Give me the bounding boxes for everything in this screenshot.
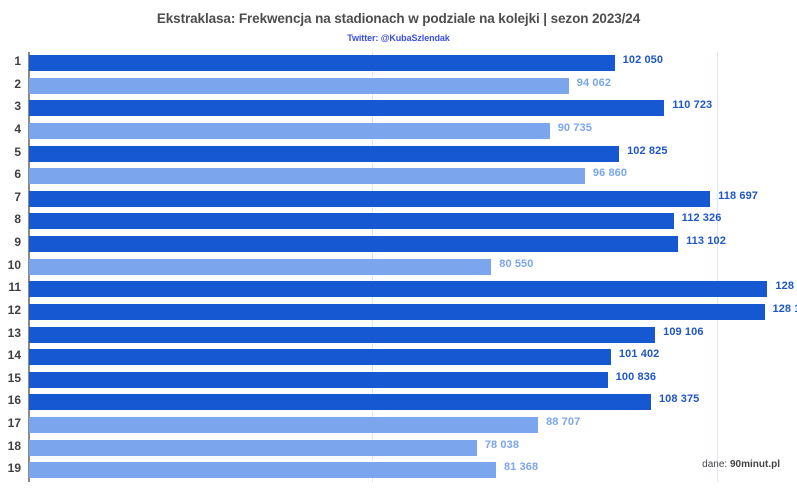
bar[interactable] <box>29 55 615 71</box>
y-axis-tick: 19 <box>0 459 28 481</box>
bar[interactable] <box>29 259 491 275</box>
bar[interactable] <box>29 191 710 207</box>
y-axis-tick-label: 18 <box>0 439 21 453</box>
bar-value-label: 128 163 <box>773 303 797 315</box>
y-axis-tick: 2 <box>0 75 28 97</box>
bar[interactable] <box>29 78 569 94</box>
bar[interactable] <box>29 281 767 297</box>
y-axis-tick-label: 16 <box>0 393 21 407</box>
y-axis-tick: 1 <box>0 52 28 74</box>
bar-value-label: 102 050 <box>623 54 663 66</box>
y-axis-tick-label: 5 <box>0 145 21 159</box>
bar[interactable] <box>29 417 538 433</box>
bar-row: 5102 825 <box>28 143 797 165</box>
bar-value-label: 96 860 <box>593 167 627 179</box>
bar-row: 294 062 <box>28 75 797 97</box>
chart-title: Ekstraklasa: Frekwencja na stadionach w … <box>0 11 797 26</box>
y-axis-tick: 6 <box>0 165 28 187</box>
y-axis-tick-label: 11 <box>0 280 21 294</box>
bar-value-label: 88 707 <box>546 416 580 428</box>
bar-value-label: 109 106 <box>663 326 703 338</box>
bar-value-label: 128 673 <box>775 280 797 292</box>
chart-subtitle: Twitter: @KubaSzlendak <box>0 33 797 43</box>
bar[interactable] <box>29 394 651 410</box>
bar[interactable] <box>29 236 678 252</box>
y-axis-tick: 10 <box>0 256 28 278</box>
bar-value-label: 102 825 <box>627 145 667 157</box>
bar-value-label: 113 102 <box>686 235 726 247</box>
bar[interactable] <box>29 146 619 162</box>
bar-row: 1102 050 <box>28 52 797 74</box>
y-axis-tick-label: 10 <box>0 258 21 272</box>
y-axis-tick: 17 <box>0 414 28 436</box>
bar[interactable] <box>29 123 550 139</box>
bar-value-label: 112 326 <box>682 212 722 224</box>
y-axis-tick: 14 <box>0 346 28 368</box>
chart-container: Ekstraklasa: Frekwencja na stadionach w … <box>0 0 797 488</box>
y-axis-tick: 7 <box>0 188 28 210</box>
plot-area: 1102 050294 0623110 723490 7355102 82569… <box>28 52 797 482</box>
y-axis-tick: 9 <box>0 233 28 255</box>
bar-row: 1981 368 <box>28 459 797 481</box>
bar-row: 16108 375 <box>28 391 797 413</box>
y-axis-tick-label: 12 <box>0 303 21 317</box>
y-axis-tick: 11 <box>0 278 28 300</box>
y-axis-tick-label: 4 <box>0 122 21 136</box>
y-axis-tick-label: 3 <box>0 99 21 113</box>
bar-value-label: 94 062 <box>577 77 611 89</box>
y-axis-tick-label: 14 <box>0 348 21 362</box>
y-axis-tick: 16 <box>0 391 28 413</box>
bar-row: 8112 326 <box>28 210 797 232</box>
y-axis-tick: 15 <box>0 369 28 391</box>
bar-row: 12128 163 <box>28 301 797 323</box>
y-axis-tick-label: 19 <box>0 461 21 475</box>
bar-value-label: 118 697 <box>718 190 758 202</box>
bar-row: 1788 707 <box>28 414 797 436</box>
y-axis-tick-label: 15 <box>0 371 21 385</box>
bar-value-label: 80 550 <box>499 258 533 270</box>
bar-row: 3110 723 <box>28 97 797 119</box>
y-axis-tick-label: 6 <box>0 167 21 181</box>
bar[interactable] <box>29 100 664 116</box>
y-axis-tick: 12 <box>0 301 28 323</box>
source-note: dane: 90minut.pl <box>702 459 780 470</box>
bar-row: 1878 038 <box>28 437 797 459</box>
y-axis-tick-label: 7 <box>0 190 21 204</box>
bar-row: 15100 836 <box>28 369 797 391</box>
bar-row: 14101 402 <box>28 346 797 368</box>
bar-value-label: 108 375 <box>659 393 699 405</box>
y-axis-tick-label: 8 <box>0 212 21 226</box>
bar-row: 7118 697 <box>28 188 797 210</box>
y-axis-tick: 13 <box>0 324 28 346</box>
bar-value-label: 81 368 <box>504 461 538 473</box>
bar-value-label: 101 402 <box>619 348 659 360</box>
y-axis-tick: 4 <box>0 120 28 142</box>
y-axis-tick-label: 2 <box>0 77 21 91</box>
y-axis-tick-label: 9 <box>0 235 21 249</box>
y-axis-tick: 18 <box>0 437 28 459</box>
bar[interactable] <box>29 213 674 229</box>
source-prefix: dane: <box>702 459 730 470</box>
bar[interactable] <box>29 372 608 388</box>
y-axis-tick: 8 <box>0 210 28 232</box>
y-axis-tick-label: 17 <box>0 416 21 430</box>
bar-value-label: 78 038 <box>485 439 519 451</box>
bar[interactable] <box>29 349 611 365</box>
bar-row: 9113 102 <box>28 233 797 255</box>
bar[interactable] <box>29 168 585 184</box>
bar[interactable] <box>29 462 496 478</box>
y-axis-tick-label: 1 <box>0 54 21 68</box>
y-axis-tick-label: 13 <box>0 326 21 340</box>
y-axis-tick: 5 <box>0 143 28 165</box>
bar-row: 696 860 <box>28 165 797 187</box>
y-axis-tick: 3 <box>0 97 28 119</box>
bar[interactable] <box>29 327 655 343</box>
bar-row: 490 735 <box>28 120 797 142</box>
bar-row: 1080 550 <box>28 256 797 278</box>
source-name: 90minut.pl <box>730 459 780 470</box>
bar-row: 11128 673 <box>28 278 797 300</box>
bar-value-label: 90 735 <box>558 122 592 134</box>
bar-value-label: 110 723 <box>672 99 712 111</box>
bar-value-label: 100 836 <box>616 371 656 383</box>
bar[interactable] <box>29 440 477 456</box>
bar[interactable] <box>29 304 765 320</box>
bar-row: 13109 106 <box>28 324 797 346</box>
